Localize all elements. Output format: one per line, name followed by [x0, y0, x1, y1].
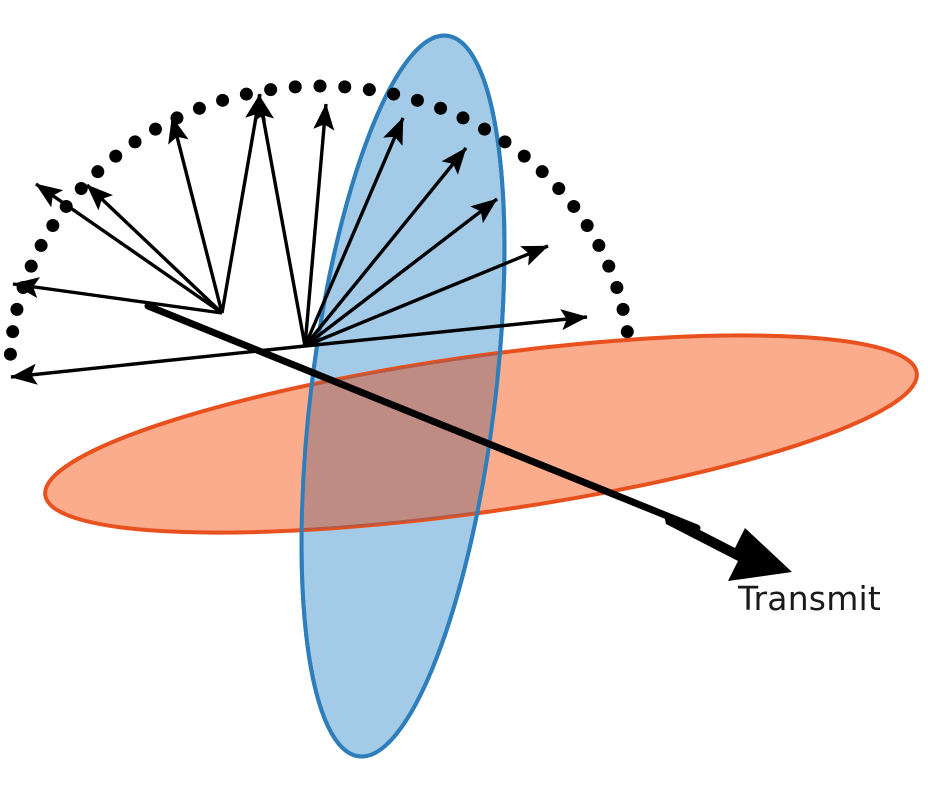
- arc-dot: [592, 239, 605, 252]
- arc-dot: [10, 303, 23, 316]
- arc-dot: [149, 123, 162, 136]
- arc-dot: [6, 325, 19, 338]
- arc-dot: [536, 165, 549, 178]
- arc-dot: [617, 303, 630, 316]
- arc-dot: [46, 219, 59, 232]
- arc-dot: [216, 94, 229, 107]
- diagram-canvas: Transmit: [0, 0, 928, 796]
- arc-dot: [289, 80, 302, 93]
- arc-dot: [129, 135, 142, 148]
- arc-dot: [314, 80, 327, 93]
- arc-dot: [602, 260, 615, 273]
- arc-dot: [581, 219, 594, 232]
- arc-dot: [478, 123, 491, 136]
- arc-dot: [338, 80, 351, 93]
- arc-dot: [91, 165, 104, 178]
- arc-dot: [240, 88, 253, 101]
- arc-dot: [264, 83, 277, 96]
- arc-dot: [363, 83, 376, 96]
- arc-dot: [457, 111, 470, 124]
- arc-dot: [387, 88, 400, 101]
- arc-dot: [109, 150, 122, 163]
- arc-dot: [518, 150, 531, 163]
- arc-dot: [567, 200, 580, 213]
- arc-dot: [75, 182, 88, 195]
- arc-dot: [4, 348, 17, 361]
- arc-dot: [411, 94, 424, 107]
- arc-dot: [552, 182, 565, 195]
- arc-dot: [25, 260, 38, 273]
- arc-dot: [498, 135, 511, 148]
- transmit-label: Transmit: [737, 579, 881, 618]
- arc-dot: [610, 281, 623, 294]
- polarization-diagram: Transmit: [0, 0, 928, 796]
- arc-dot: [621, 325, 634, 338]
- arc-dot: [193, 102, 206, 115]
- arc-dot: [434, 102, 447, 115]
- arc-dot: [35, 239, 48, 252]
